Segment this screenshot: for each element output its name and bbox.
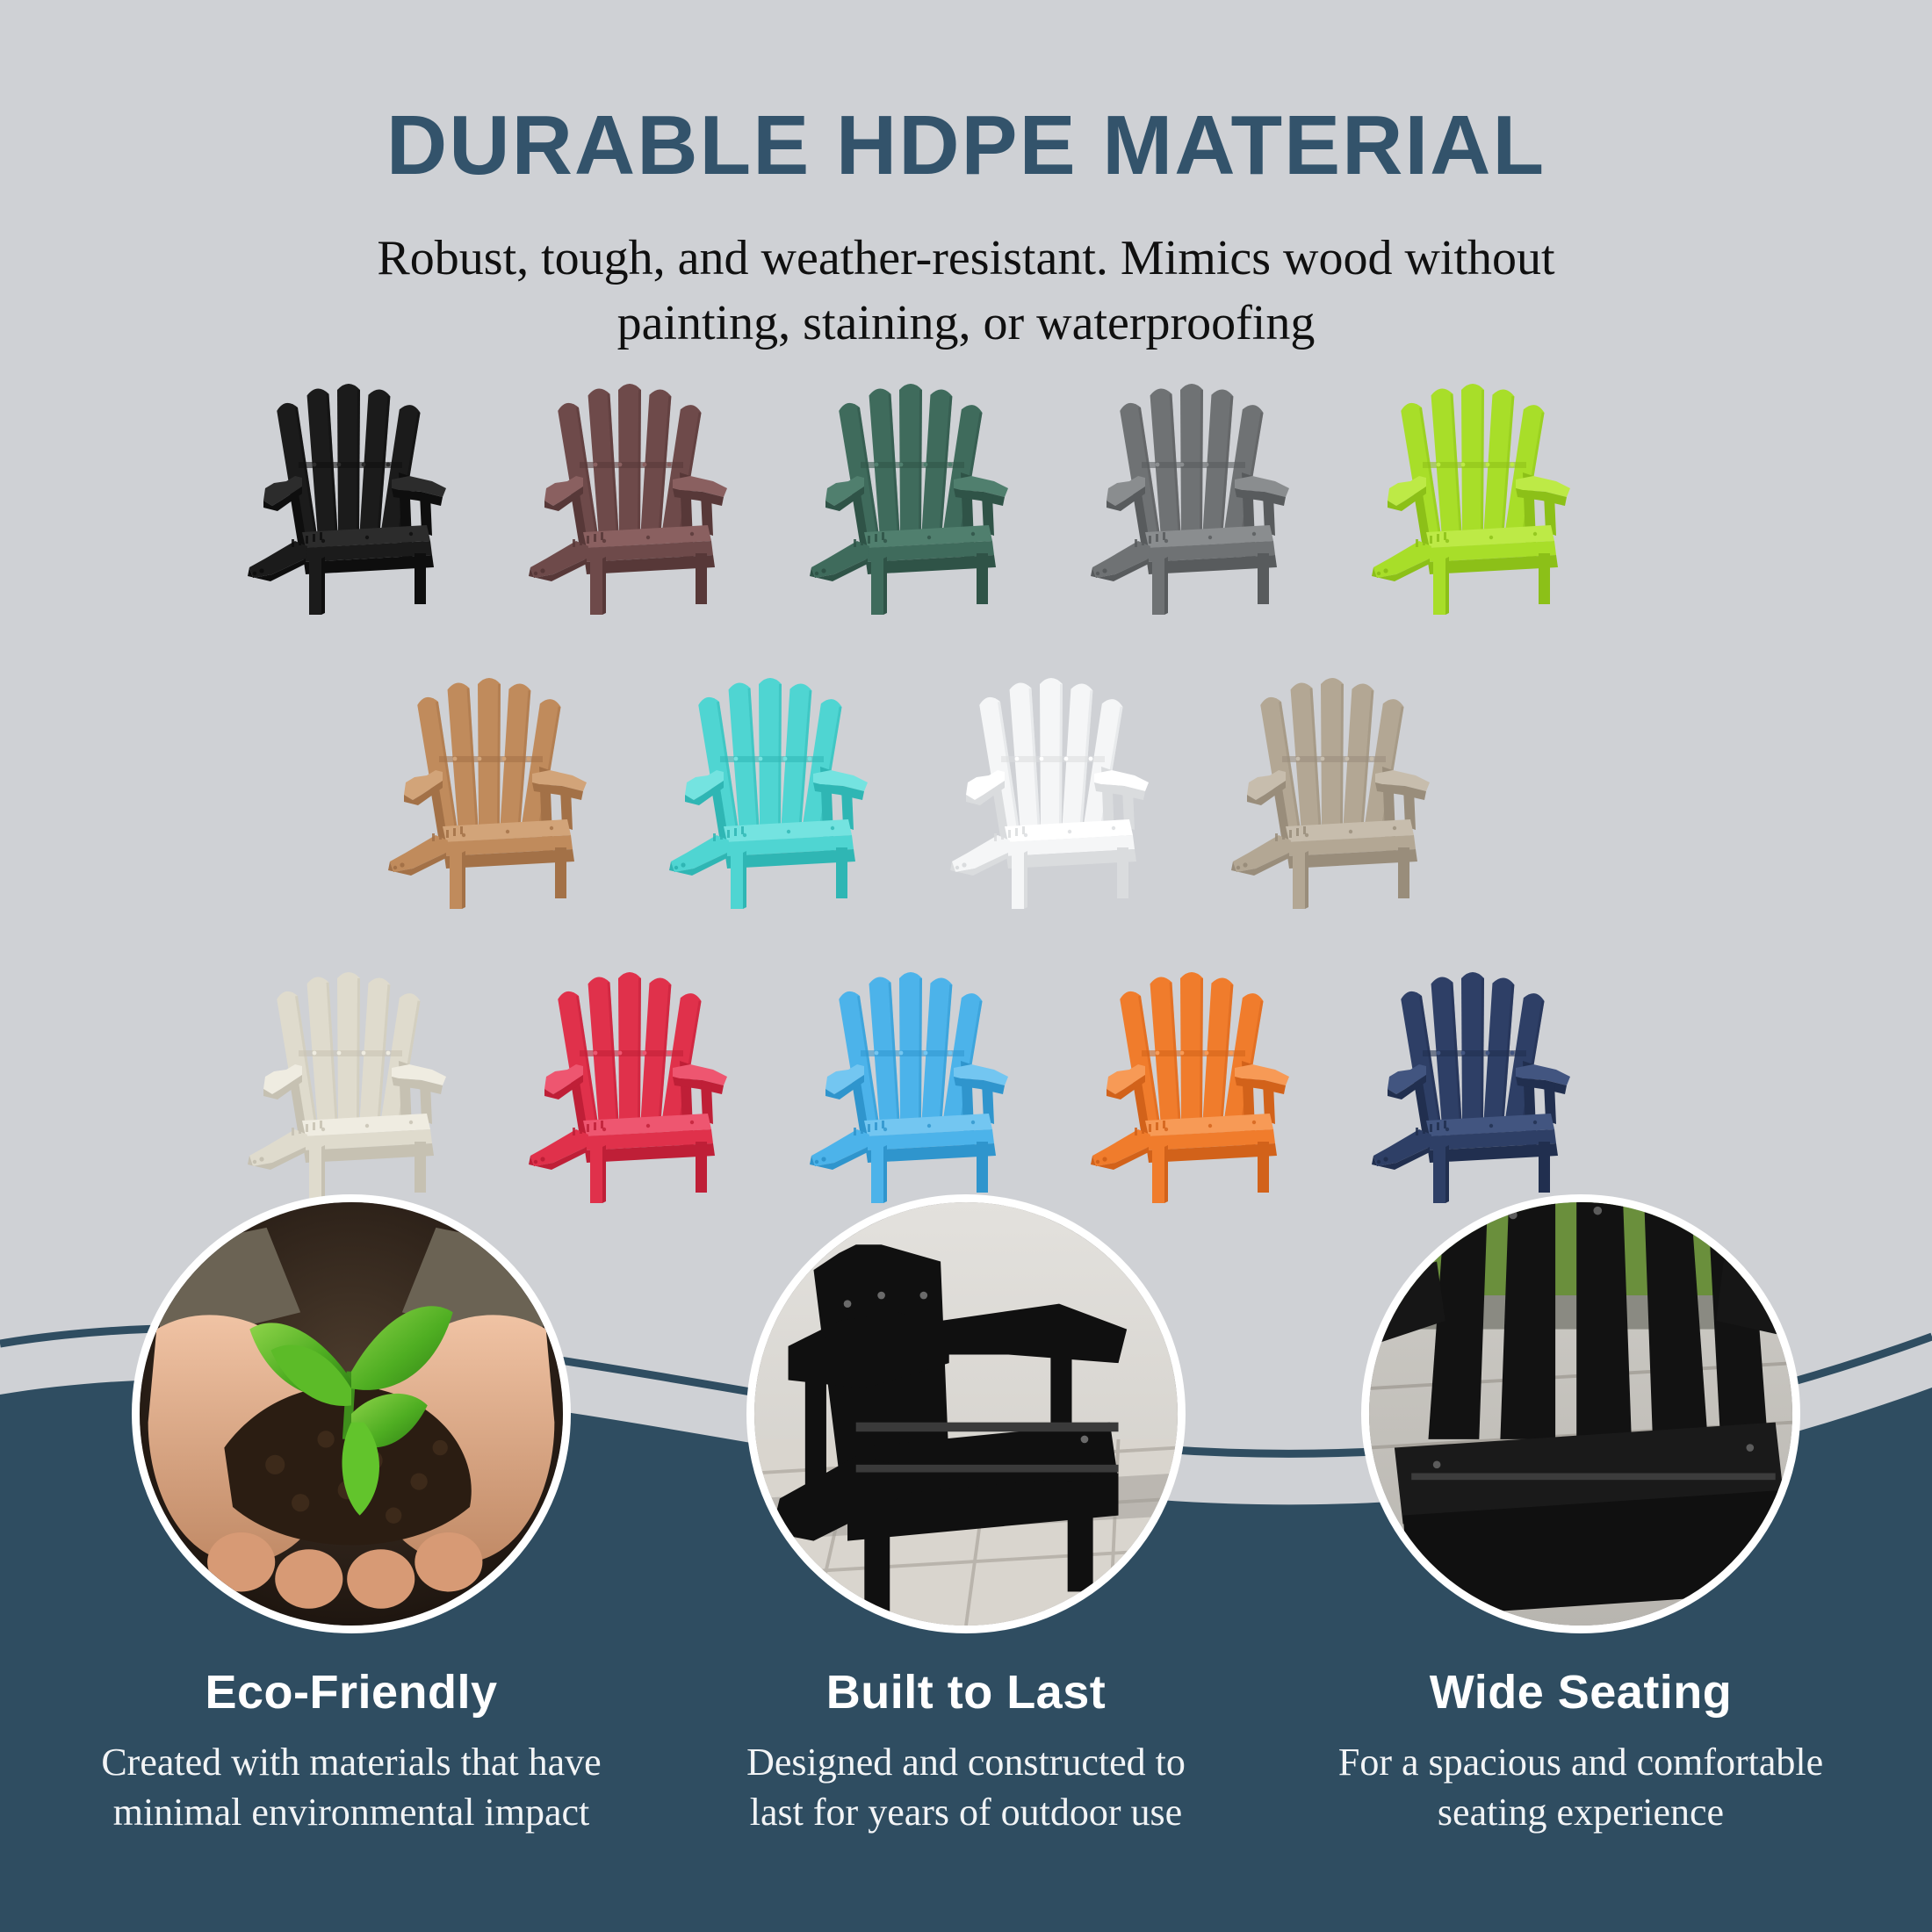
- chair-swatch-brown[interactable]: [492, 360, 755, 624]
- black-chair-wide-seat-closeup-photo: [1361, 1194, 1800, 1633]
- feature-desc-line-1: For a spacious and comfortable: [1317, 1737, 1844, 1787]
- chair-swatch-turquoise[interactable]: [632, 654, 896, 918]
- feature-title-eco-friendly: Eco-Friendly: [70, 1633, 632, 1719]
- header: DURABLE HDPE MATERIAL Robust, tough, and…: [0, 0, 1932, 357]
- black-adirondack-chair-on-patio-photo: [746, 1194, 1186, 1633]
- chair-swatch-red[interactable]: [492, 948, 755, 1212]
- chair-swatch-light-blue[interactable]: [773, 948, 1036, 1212]
- feature-desc-line-2: last for years of outdoor use: [703, 1787, 1229, 1837]
- page-title: DURABLE HDPE MATERIAL: [0, 0, 1932, 188]
- chair-swatch-teak[interactable]: [351, 654, 615, 918]
- page-subtitle: Robust, tough, and weather-resistant. Mi…: [281, 188, 1651, 357]
- feature-card-wide-seating: Wide Seating For a spacious and comforta…: [1300, 1194, 1862, 1837]
- chair-swatch-lime-green[interactable]: [1335, 360, 1598, 624]
- chair-swatch-ivory[interactable]: [211, 948, 474, 1212]
- chair-swatch-black[interactable]: [211, 360, 474, 624]
- subtitle-line-1: Robust, tough, and weather-resistant. Mi…: [281, 227, 1651, 292]
- infographic-page: DURABLE HDPE MATERIAL Robust, tough, and…: [0, 0, 1932, 1932]
- feature-desc-line-1: Designed and constructed to: [703, 1737, 1229, 1787]
- chair-swatch-weathered-wood[interactable]: [1194, 654, 1458, 918]
- feature-card-eco-friendly: Eco-Friendly Created with materials that…: [70, 1194, 632, 1837]
- feature-description-eco-friendly: Created with materials that have minimal…: [88, 1719, 615, 1837]
- subtitle-line-2: painting, staining, or waterproofing: [281, 292, 1651, 357]
- feature-description-built-to-last: Designed and constructed to last for yea…: [703, 1719, 1229, 1837]
- feature-desc-line-1: Created with materials that have: [88, 1737, 615, 1787]
- feature-description-wide-seating: For a spacious and comfortable seating e…: [1317, 1719, 1844, 1837]
- chair-swatch-gray[interactable]: [1054, 360, 1317, 624]
- feature-desc-line-2: minimal environmental impact: [88, 1787, 615, 1837]
- feature-title-wide-seating: Wide Seating: [1300, 1633, 1862, 1719]
- chair-swatch-dark-green[interactable]: [773, 360, 1036, 624]
- feature-desc-line-2: seating experience: [1317, 1787, 1844, 1837]
- feature-title-built-to-last: Built to Last: [685, 1633, 1247, 1719]
- feature-row: Eco-Friendly Created with materials that…: [0, 1194, 1932, 1932]
- hands-holding-seedling-in-soil-photo: [132, 1194, 571, 1633]
- chair-swatch-white[interactable]: [913, 654, 1177, 918]
- chair-swatch-orange[interactable]: [1054, 948, 1317, 1212]
- feature-card-built-to-last: Built to Last Designed and constructed t…: [685, 1194, 1247, 1837]
- chair-swatch-navy-blue[interactable]: [1335, 948, 1598, 1212]
